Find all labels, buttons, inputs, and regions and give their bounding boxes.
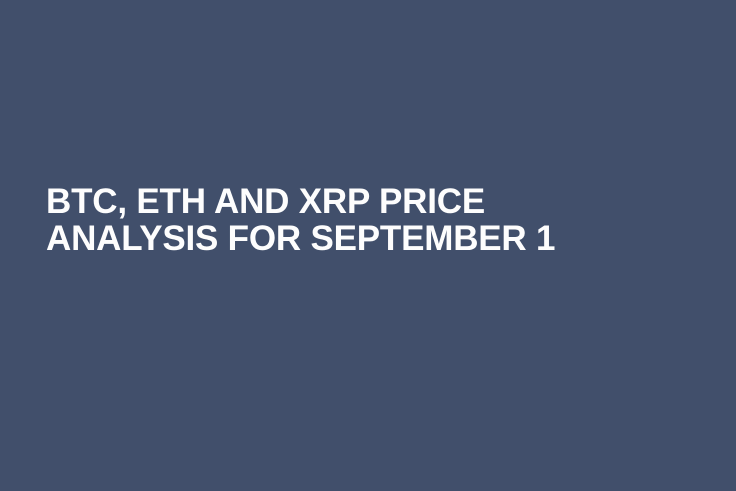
- hero-content: BTC, ETH and XRP Price Analysis for Sept…: [46, 183, 696, 257]
- page-title: BTC, ETH and XRP Price Analysis for Sept…: [46, 183, 696, 257]
- article-hero-banner: BTC, ETH and XRP Price Analysis for Sept…: [0, 0, 736, 491]
